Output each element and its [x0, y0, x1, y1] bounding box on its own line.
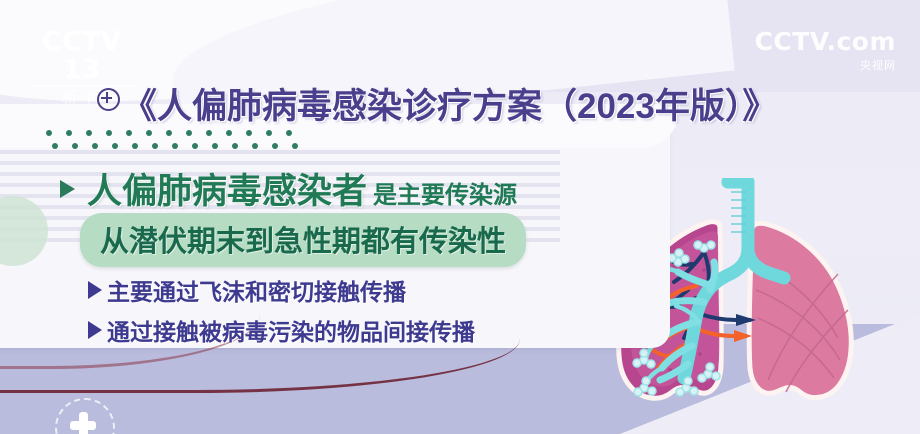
decorative-dot	[132, 143, 138, 149]
primary-statement-emphasis: 人偏肺病毒感染者	[87, 163, 367, 214]
decorative-dot	[192, 143, 198, 149]
decorative-dot	[206, 130, 212, 136]
decorative-dot	[226, 130, 232, 136]
cctv13-logo-text: CCTV 13	[22, 28, 142, 84]
watermark-main-text: CCTV.com	[755, 27, 896, 56]
triangle-right-icon	[88, 281, 102, 299]
cctv13-channel-logo: CCTV 13 新闻	[22, 28, 142, 82]
decorative-dot	[112, 143, 118, 149]
decorative-dot	[172, 143, 178, 149]
decorative-dot	[246, 130, 252, 136]
primary-statement: 人偏肺病毒感染者 是主要传染源	[60, 163, 517, 214]
triangle-right-icon	[60, 180, 75, 198]
highlight-pill: 从潜伏期末到急性期都有传染性	[80, 213, 526, 267]
bullet-label: 主要通过飞沫和密切接触传播	[107, 273, 406, 307]
decorative-dot	[46, 130, 52, 136]
bullet-item-transmission-fomite: 通过接触被病毒污染的物品间接传播	[88, 313, 475, 347]
cctv-com-watermark: CCTV.com 央视网	[755, 30, 896, 78]
decorative-dot	[286, 130, 292, 136]
decorative-dot	[166, 130, 172, 136]
decorative-dot	[152, 143, 158, 149]
broadcast-graphic: CCTV 13 新闻 CCTV.com 央视网 《人偏肺病毒感染诊疗方案（202…	[0, 0, 920, 434]
primary-statement-rest: 是主要传染源	[373, 175, 517, 210]
circled-plus-icon	[97, 88, 120, 111]
decorative-dot	[146, 130, 152, 136]
bullet-label: 通过接触被病毒污染的物品间接传播	[107, 313, 475, 347]
decorative-dot	[66, 130, 72, 136]
decorative-dot	[86, 130, 92, 136]
watermark-sub-text: 央视网	[755, 54, 896, 78]
decorative-dot	[266, 130, 272, 136]
decorative-dot	[72, 143, 78, 149]
decorative-dot	[106, 130, 112, 136]
decorative-dot	[252, 143, 258, 149]
decorative-dot	[212, 143, 218, 149]
decorative-dot	[92, 143, 98, 149]
decorative-dot	[52, 143, 58, 149]
decorative-dot-grid	[46, 130, 376, 160]
cctv13-logo-underline	[30, 85, 134, 87]
page-title: 《人偏肺病毒感染诊疗方案（2023年版）》	[122, 78, 777, 129]
decorative-dot	[292, 143, 298, 149]
triangle-right-icon	[88, 321, 102, 339]
plus-badge-glyph	[70, 412, 96, 434]
highlight-pill-text: 从潜伏期末到急性期都有传染性	[100, 226, 506, 258]
decorative-dot	[232, 143, 238, 149]
decorative-dot	[126, 130, 132, 136]
bullet-item-transmission-droplet: 主要通过飞沫和密切接触传播	[88, 273, 406, 307]
decorative-dot	[272, 143, 278, 149]
decorative-dot	[186, 130, 192, 136]
